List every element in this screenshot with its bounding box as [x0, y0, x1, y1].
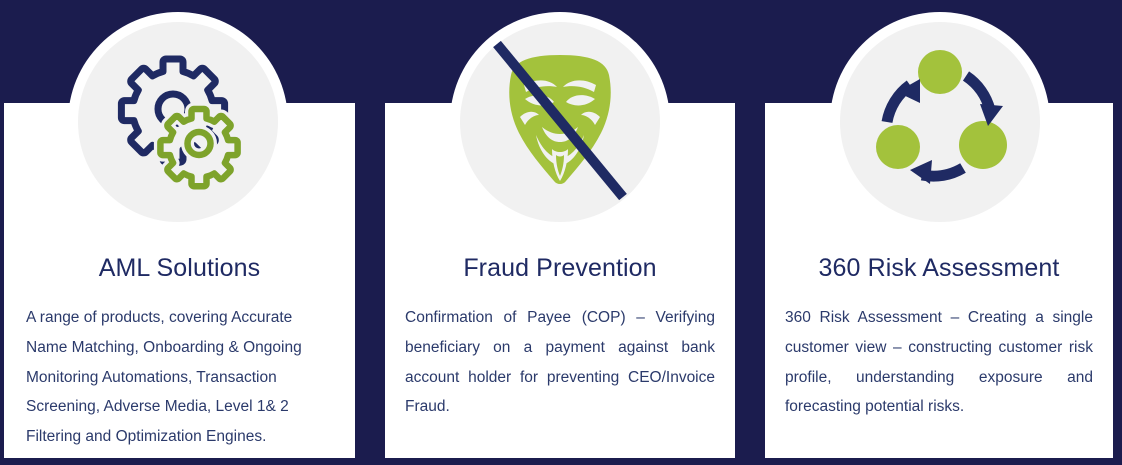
- node-top: [918, 50, 962, 94]
- card-description: Confirmation of Payee (COP) – Verifying …: [405, 303, 715, 422]
- medallion-risk-assessment: [830, 12, 1050, 232]
- node-right: [959, 121, 1007, 169]
- medallion-aml-solutions: [68, 12, 288, 232]
- medallion-fraud-prevention: [450, 12, 670, 232]
- node-left: [876, 125, 920, 169]
- card-title: 360 Risk Assessment: [765, 253, 1113, 283]
- solutions-panel: AML Solutions A range of products, cover…: [0, 0, 1122, 465]
- medallion-inner: [78, 22, 278, 222]
- card-description: A range of products, covering Accurate N…: [26, 303, 325, 452]
- card-description: 360 Risk Assessment – Creating a single …: [785, 303, 1093, 422]
- medallion-inner: [840, 22, 1040, 222]
- crossed-out-mask-icon: [480, 37, 640, 207]
- medallion-inner: [460, 22, 660, 222]
- two-gears-icon: [103, 47, 253, 197]
- circular-arrows-icon: [860, 42, 1020, 202]
- card-title: Fraud Prevention: [385, 253, 735, 283]
- card-title: AML Solutions: [4, 253, 355, 283]
